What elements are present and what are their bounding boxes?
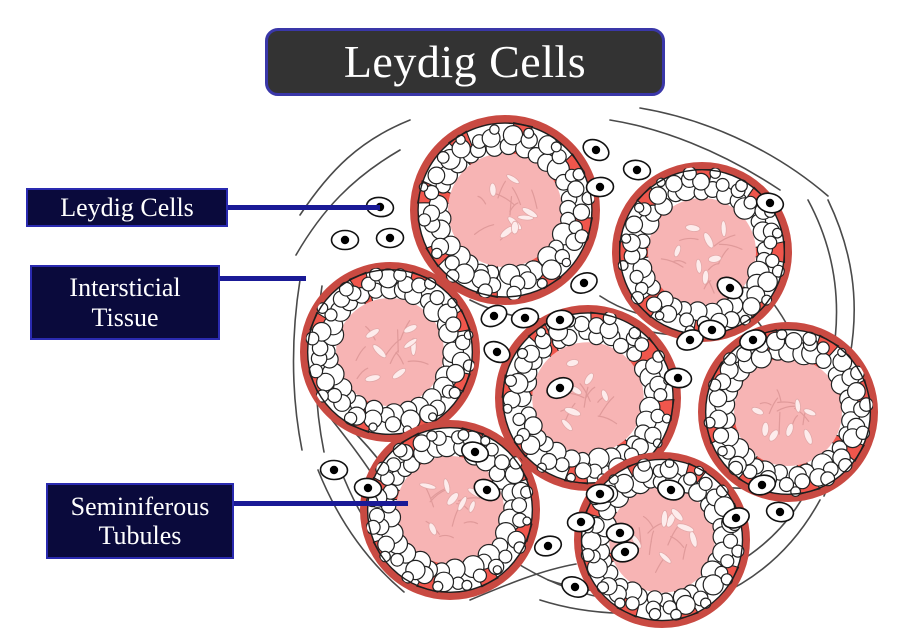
tubule-bottom-left: [364, 424, 536, 596]
leydig-cell: [765, 500, 795, 523]
tubule-left: [304, 266, 476, 438]
callout-seminiferous-tubules-line2: Tubules: [71, 521, 210, 550]
tubule-top-left: [414, 119, 596, 301]
callout-interstitial-tissue-line2: Tissue: [69, 303, 180, 332]
leydig-cell: [533, 533, 564, 558]
leydig-cell: [586, 484, 614, 504]
tubule-right: [702, 326, 874, 498]
callout-interstitial-tissue-line1: Intersticial: [69, 273, 180, 302]
callout-seminiferous-tubules: Seminiferous Tubules: [46, 483, 234, 559]
leydig-cell: [586, 177, 614, 197]
callout-seminiferous-tubules-line1: Seminiferous: [71, 492, 210, 521]
leydig-cell: [320, 460, 348, 480]
seminiferous-tubules-group: [304, 119, 874, 624]
callout-leydig-cells-line1: Leydig Cells: [60, 193, 194, 222]
callout-leydig-cells: Leydig Cells: [26, 188, 228, 227]
leader-line-interstitial-tissue: [214, 276, 306, 281]
leydig-cell: [622, 158, 652, 181]
tubule-top-right: [616, 166, 788, 338]
leader-line-seminiferous-tubules: [228, 501, 408, 506]
leydig-cell: [332, 231, 359, 250]
leydig-cell: [376, 228, 404, 248]
callout-interstitial-tissue: Intersticial Tissue: [30, 265, 220, 340]
slide-canvas: Leydig Cells Leydig Cells Intersticial T…: [0, 0, 919, 634]
leader-line-leydig-cells: [222, 205, 380, 210]
